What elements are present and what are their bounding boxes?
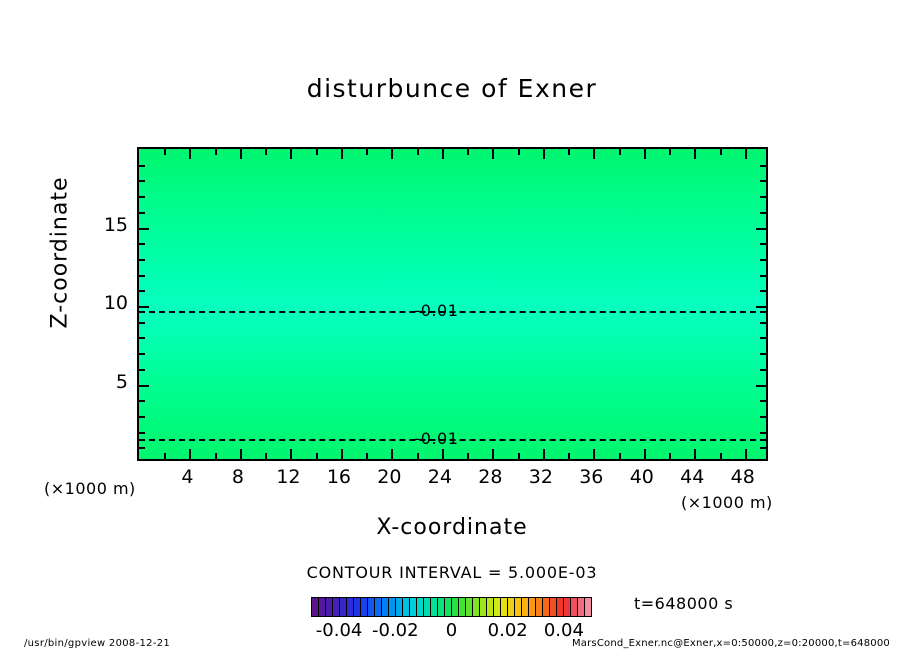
axis-tick	[139, 369, 145, 371]
axis-tick	[139, 275, 145, 277]
axis-tick	[593, 449, 595, 459]
colorbar-cell	[459, 598, 466, 616]
x-tick-label: 36	[568, 466, 614, 488]
axis-tick	[760, 369, 766, 371]
axis-tick	[391, 149, 393, 159]
colorbar-gradient	[311, 597, 592, 617]
axis-tick	[760, 447, 766, 449]
colorbar-cell	[571, 598, 578, 616]
axis-tick	[760, 416, 766, 418]
axis-tick	[139, 196, 145, 198]
footer-command: /usr/bin/gpview 2008-12-21	[24, 638, 170, 649]
axis-tick	[139, 337, 145, 339]
axis-tick	[139, 400, 145, 402]
time-label: t=648000 s	[634, 594, 733, 613]
colorbar-cell	[340, 598, 347, 616]
x-tick-label: 20	[366, 466, 412, 488]
axis-tick	[669, 453, 671, 459]
axis-tick	[240, 449, 242, 459]
colorbar-cell	[452, 598, 459, 616]
axis-tick	[442, 449, 444, 459]
x-tick-label: 16	[316, 466, 362, 488]
x-axis-label: X-coordinate	[0, 515, 904, 540]
axis-tick	[139, 180, 145, 182]
axis-tick	[644, 449, 646, 459]
axis-tick	[760, 337, 766, 339]
axis-tick	[341, 149, 343, 159]
axis-tick	[518, 453, 520, 459]
axis-tick	[316, 149, 318, 155]
colorbar-cell	[354, 598, 361, 616]
axis-tick	[215, 149, 217, 155]
colorbar-cell	[501, 598, 508, 616]
axis-tick	[756, 385, 766, 387]
footer-source: MarsCond_Exner.nc@Exner,x=0:50000,z=0:20…	[572, 638, 890, 649]
axis-tick	[391, 449, 393, 459]
axis-tick	[417, 453, 419, 459]
colorbar-cell	[417, 598, 424, 616]
axis-tick	[644, 149, 646, 159]
colorbar-cell	[543, 598, 550, 616]
axis-tick	[543, 449, 545, 459]
axis-tick	[265, 149, 267, 155]
axis-tick	[745, 449, 747, 459]
axis-tick	[417, 149, 419, 155]
axis-tick	[720, 149, 722, 155]
axis-tick	[760, 290, 766, 292]
axis-tick	[694, 149, 696, 159]
colorbar-cell	[522, 598, 529, 616]
colorbar-cell	[389, 598, 396, 616]
axis-tick	[139, 290, 145, 292]
colorbar-cell	[480, 598, 487, 616]
axis-tick	[593, 149, 595, 159]
y-tick-label: 10	[92, 292, 128, 314]
axis-tick	[139, 306, 149, 308]
colorbar	[311, 597, 592, 617]
axis-tick	[669, 149, 671, 155]
axis-tick	[760, 275, 766, 277]
colorbar-cell	[494, 598, 501, 616]
axis-tick	[760, 259, 766, 261]
x-tick-label: 40	[619, 466, 665, 488]
colorbar-cell	[312, 598, 319, 616]
y-tick-label: 5	[92, 371, 128, 393]
axis-tick	[290, 449, 292, 459]
colorbar-cell	[473, 598, 480, 616]
axis-tick	[139, 212, 145, 214]
colorbar-cell	[466, 598, 473, 616]
colorbar-cell	[515, 598, 522, 616]
colorbar-cell	[557, 598, 564, 616]
colorbar-cell	[438, 598, 445, 616]
colorbar-cell	[445, 598, 452, 616]
colorbar-cell	[319, 598, 326, 616]
colorbar-cell	[585, 598, 591, 616]
colorbar-cell	[396, 598, 403, 616]
axis-tick	[760, 432, 766, 434]
axis-tick	[139, 165, 145, 167]
y-axis-label: Z-coordinate	[48, 153, 73, 353]
axis-tick	[139, 228, 149, 230]
colorbar-cell	[347, 598, 354, 616]
axis-tick	[760, 243, 766, 245]
x-tick-label: 4	[164, 466, 210, 488]
colorbar-cell	[487, 598, 494, 616]
y-tick-label: 15	[92, 214, 128, 236]
colorbar-cell	[382, 598, 389, 616]
axis-tick	[139, 385, 149, 387]
axis-tick	[139, 353, 145, 355]
axis-tick	[568, 453, 570, 459]
axis-tick	[467, 149, 469, 155]
axis-tick	[139, 243, 145, 245]
axis-tick	[240, 149, 242, 159]
axis-tick	[756, 228, 766, 230]
x-tick-label: 32	[518, 466, 564, 488]
axis-tick	[139, 259, 145, 261]
axis-tick	[366, 149, 368, 155]
x-tick-label: 28	[467, 466, 513, 488]
axis-tick	[492, 149, 494, 159]
axis-tick	[189, 449, 191, 459]
axis-tick	[442, 149, 444, 159]
axis-tick	[619, 149, 621, 155]
axis-tick	[760, 180, 766, 182]
axis-tick	[139, 447, 145, 449]
colorbar-cell	[578, 598, 585, 616]
axis-tick	[720, 453, 722, 459]
colorbar-cell	[410, 598, 417, 616]
axis-tick	[760, 322, 766, 324]
x-axis-unit-left: (×1000 m)	[44, 479, 136, 498]
axis-tick	[492, 449, 494, 459]
axis-tick	[366, 453, 368, 459]
colorbar-cell	[529, 598, 536, 616]
colorbar-cell	[326, 598, 333, 616]
colorbar-cell	[403, 598, 410, 616]
axis-tick	[139, 416, 145, 418]
axis-tick	[518, 149, 520, 155]
axis-tick	[543, 149, 545, 159]
axis-tick	[215, 453, 217, 459]
axis-tick	[265, 453, 267, 459]
axis-tick	[189, 149, 191, 159]
colorbar-cell	[375, 598, 382, 616]
contour-label: -0.01	[415, 429, 459, 448]
axis-tick	[164, 453, 166, 459]
contour-label: -0.01	[415, 301, 459, 320]
colorbar-cell	[564, 598, 571, 616]
colorbar-cell	[361, 598, 368, 616]
colorbar-cell	[368, 598, 375, 616]
x-tick-label: 44	[669, 466, 715, 488]
x-tick-label: 8	[215, 466, 261, 488]
contour-interval-text: CONTOUR INTERVAL = 5.000E-03	[0, 563, 904, 582]
axis-tick	[290, 149, 292, 159]
axis-tick	[139, 432, 145, 434]
axis-tick	[619, 453, 621, 459]
axis-tick	[467, 453, 469, 459]
axis-tick	[745, 149, 747, 159]
axis-tick	[760, 353, 766, 355]
axis-tick	[760, 212, 766, 214]
x-tick-label: 48	[720, 466, 766, 488]
gpview-plot-window: disturbunce of Exner -0.01-0.01 48121620…	[0, 0, 904, 654]
colorbar-cell	[550, 598, 557, 616]
x-tick-label: 24	[417, 466, 463, 488]
x-tick-label: 12	[265, 466, 311, 488]
axis-tick	[756, 306, 766, 308]
axis-tick	[760, 165, 766, 167]
axis-tick	[760, 196, 766, 198]
plot-area: -0.01-0.01	[137, 147, 768, 461]
axis-tick	[568, 149, 570, 155]
axis-tick	[139, 322, 145, 324]
colorbar-cell	[536, 598, 543, 616]
axis-tick	[316, 453, 318, 459]
x-axis-unit-right: (×1000 m)	[681, 493, 773, 512]
page-title: disturbunce of Exner	[0, 74, 904, 103]
colorbar-cell	[508, 598, 515, 616]
colorbar-cell	[424, 598, 431, 616]
axis-tick	[760, 400, 766, 402]
axis-tick	[694, 449, 696, 459]
colorbar-cell	[333, 598, 340, 616]
axis-tick	[164, 149, 166, 155]
axis-tick	[341, 449, 343, 459]
colorbar-cell	[431, 598, 438, 616]
